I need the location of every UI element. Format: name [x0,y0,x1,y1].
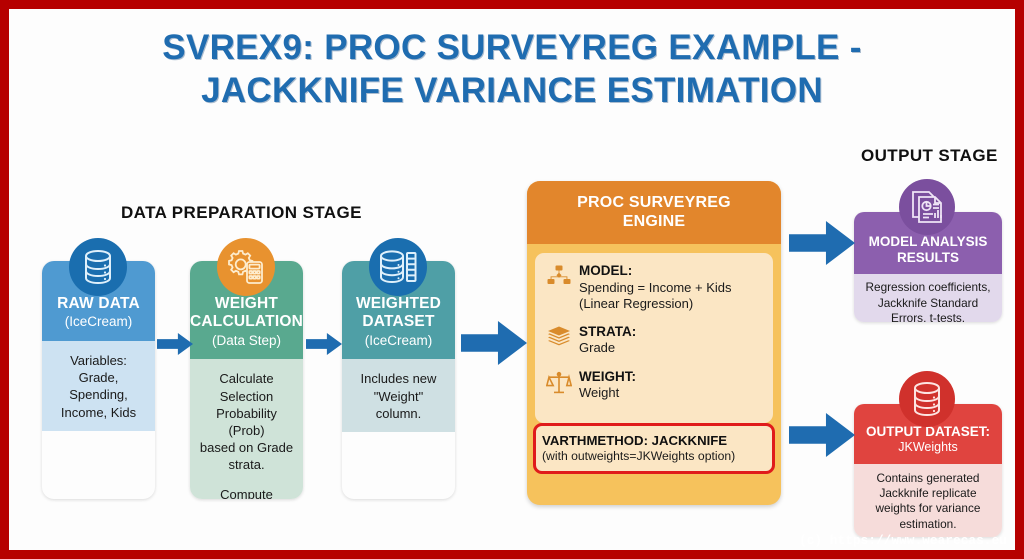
page-title-line2: JACKKNIFE VARIANCE ESTIMATION [9,70,1015,113]
weight-body-line2: Probability (Prob) [198,405,295,439]
data-preparation-stage-label: DATA PREPARATION STAGE [121,203,362,223]
card-dataset-title-line1: WEIGHTED [342,295,455,313]
page-title: SVREX9: PROC SURVEYREG EXAMPLE - JACKKNI… [9,27,1015,112]
output-dataset-subtitle: JKWeights [860,440,996,456]
spec-weight-label: WEIGHT: [579,369,636,385]
output-dataset-body-line2: Jackknife replicate [859,486,997,501]
dataset-body-line1: Includes new [350,370,447,387]
spacer [198,473,295,486]
spec-model: MODEL: Spending = Income + Kids (Linear … [543,263,765,312]
card-weight-title-line2: CALCULATION [190,313,303,331]
engine-header-line2: ENGINE [533,212,775,231]
layers-icon [543,324,575,348]
spec-model-label: MODEL: [579,263,732,279]
card-dataset-subtitle: (IceCream) [342,333,455,350]
spec-strata: STRATA: Grade [543,324,765,356]
card-model-results-body: Regression coefficients, Jackknife Stand… [854,274,1002,322]
output-dataset-body-line3: weights for variance [859,501,997,516]
spec-strata-label: STRATA: [579,324,636,340]
output-dataset-body-line1: Contains generated [859,471,997,486]
spec-model-text: MODEL: Spending = Income + Kids (Linear … [575,263,732,312]
spec-weight-value: Weight [579,385,636,401]
varthmethod-highlight-box: VARTHMETHOD: JACKKNIFE (with outweights=… [533,423,775,474]
weight-body-line1: Calculate Selection [198,370,295,404]
model-results-title-line1: MODEL ANALYSIS [860,234,996,250]
proc-surveyreg-engine-panel: PROC SURVEYREG ENGINE MODEL: [527,181,781,505]
watermark-text: (c) https://www.wearecas.eu [799,534,1007,548]
spec-strata-text: STRATA: Grade [575,324,636,356]
card-raw-data-subtitle: (IceCream) [42,314,155,331]
report-chart-icon [899,179,955,235]
database-icon [69,238,127,296]
model-results-title-line2: RESULTS [860,250,996,266]
weight-body-line3: based on Grade [198,439,295,456]
hierarchy-icon [543,263,575,289]
output-stage-label: OUTPUT STAGE [861,146,998,166]
weight-body-line4: strata. [198,456,295,473]
model-results-body-line2: Jackknife Standard [859,296,997,311]
gear-calculator-icon [217,238,275,296]
card-weight-body: Calculate Selection Probability (Prob) b… [190,359,303,499]
model-results-body-line3: Errors, t-tests. [859,311,997,322]
spec-model-value-line1: Spending = Income + Kids [579,280,732,296]
model-results-body-line1: Regression coefficients, [859,280,997,295]
output-dataset-body-line4: estimation. [859,517,997,532]
card-weight-subtitle: (Data Step) [190,333,303,350]
spec-model-value-line2: (Linear Regression) [579,296,732,312]
card-raw-data-title: RAW DATA [42,295,155,313]
card-dataset-body: Includes new "Weight" column. [342,359,455,431]
arrow-raw-to-weight [157,333,193,355]
engine-header-line1: PROC SURVEYREG [533,193,775,212]
spec-weight-text: WEIGHT: Weight [575,369,636,401]
arrow-engine-to-output-dataset [789,413,855,457]
card-raw-data-body: Variables: Grade, Spending, Income, Kids [42,341,155,431]
card-raw-data: RAW DATA (IceCream) Variables: Grade, Sp… [42,261,155,499]
dataset-body-line2: "Weight" [350,388,447,405]
raw-body-line1: Variables: [50,352,147,369]
engine-spec-list: MODEL: Spending = Income + Kids (Linear … [535,253,773,423]
spec-weight: WEIGHT: Weight [543,369,765,401]
scales-icon [543,369,575,395]
diagram-canvas: SVREX9: PROC SURVEYREG EXAMPLE - JACKKNI… [0,0,1024,559]
arrow-weight-to-dataset [306,333,342,355]
card-output-dataset-body: Contains generated Jackknife replicate w… [854,464,1002,537]
raw-body-line3: Spending, [50,386,147,403]
engine-header: PROC SURVEYREG ENGINE [527,181,781,244]
dataset-body-line3: column. [350,405,447,422]
spec-strata-value: Grade [579,340,636,356]
arrow-dataset-to-engine [461,321,527,365]
card-weighted-dataset: WEIGHTED DATASET (IceCream) Includes new… [342,261,455,499]
card-dataset-title-line2: DATASET [342,313,455,331]
arrow-engine-to-model-results [789,221,855,265]
card-weight-calculation: WEIGHT CALCULATION (Data Step) Calculate… [190,261,303,499]
weight-body-line5: Compute [198,486,295,499]
raw-body-line2: Grade, [50,369,147,386]
page-title-line1: SVREX9: PROC SURVEYREG EXAMPLE - [9,27,1015,70]
varthmethod-title: VARTHMETHOD: JACKKNIFE [542,433,768,449]
database-icon [899,371,955,427]
database-weighted-icon [369,238,427,296]
card-weight-title-line1: WEIGHT [190,295,303,313]
raw-body-line4: Income, Kids [50,404,147,421]
varthmethod-subtitle: (with outweights=JKWeights option) [542,449,768,464]
